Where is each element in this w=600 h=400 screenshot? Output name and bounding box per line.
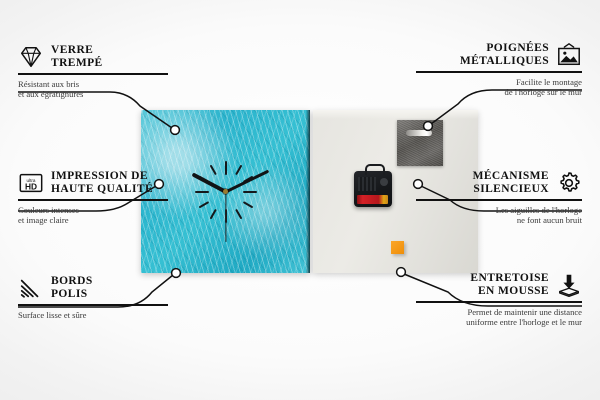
- clock-tick: [209, 164, 242, 219]
- callout-title-line2: SILENCIEUX: [473, 183, 549, 196]
- callout-header: VERRE TREMPÉ: [18, 44, 168, 70]
- callout-rule: [416, 199, 582, 201]
- ultra-hd-icon: ultra HD: [18, 170, 44, 196]
- callout-rule: [416, 301, 582, 303]
- clock-tick: [195, 191, 257, 193]
- mechanism-label-strip: [358, 177, 376, 191]
- clock-tick: [209, 164, 242, 219]
- callout-sub-line1: Facilite le montage: [416, 77, 582, 88]
- callout-mecanisme-silencieux[interactable]: MÉCANISME SILENCIEUX Les aiguilles de l'…: [416, 170, 582, 226]
- clock-tick: [198, 175, 253, 208]
- infographic-canvas: VERRE TREMPÉ Résistant aux bris et aux é…: [0, 0, 600, 400]
- mechanism-dial: [380, 178, 388, 186]
- callout-title-line2: TREMPÉ: [51, 57, 103, 70]
- clock-tick: [198, 175, 253, 208]
- callout-header: MÉCANISME SILENCIEUX: [416, 170, 582, 196]
- metallic-handle-plate: [397, 120, 443, 166]
- clock-tick: [209, 164, 242, 219]
- callout-rule: [18, 73, 168, 75]
- callout-sub-line2: et aux égratignures: [18, 89, 168, 100]
- callout-sub-line1: Couleurs intenses: [18, 205, 168, 216]
- callout-entretoise-en-mousse[interactable]: ENTRETOISE EN MOUSSE Permet de maintenir…: [416, 272, 582, 328]
- callout-sub-line1: Surface lisse et sûre: [18, 310, 168, 321]
- foam-spacer: [391, 241, 404, 254]
- clock-tick: [198, 175, 253, 208]
- clock-tick: [198, 175, 253, 208]
- callout-sub-line2: uniforme entre l'horloge et le mur: [416, 317, 582, 328]
- panel-top-sheen: [313, 110, 478, 119]
- callout-header: BORDS POLIS: [18, 275, 168, 301]
- callout-sub-line1: Résistant aux bris: [18, 79, 168, 90]
- callout-sub-line2: ne font aucun bruit: [416, 215, 582, 226]
- callout-title-line1: POIGNÉES: [460, 42, 549, 55]
- callout-title-line2: HAUTE QUALITÉ: [51, 183, 153, 196]
- gear-icon: [556, 170, 582, 196]
- foam-spacer-icon: [556, 272, 582, 298]
- clock-hour-hand: [191, 172, 226, 193]
- callout-title-line1: IMPRESSION DE: [51, 170, 153, 183]
- callout-verre-trempe[interactable]: VERRE TREMPÉ Résistant aux bris et aux é…: [18, 44, 168, 100]
- callout-sub-line2: de l'horloge sur le mur: [416, 87, 582, 98]
- callout-sub-line1: Permet de maintenir une distance: [416, 307, 582, 318]
- callout-sub-line1: Les aiguilles de l'horloge: [416, 205, 582, 216]
- clock-tick: [209, 164, 242, 219]
- clock-tick: [195, 191, 257, 193]
- handle-slot: [406, 130, 432, 136]
- clock-tick: [225, 161, 227, 223]
- callout-bords-polis[interactable]: BORDS POLIS Surface lisse et sûre: [18, 275, 168, 320]
- callout-impression-haute-qualite[interactable]: ultra HD IMPRESSION DE HAUTE QUALITÉ Cou…: [18, 170, 168, 226]
- callout-poignees-metalliques[interactable]: POIGNÉES MÉTALLIQUES Facilite le montage…: [416, 42, 582, 98]
- callout-header: ENTRETOISE EN MOUSSE: [416, 272, 582, 298]
- clock-tick: [225, 161, 227, 223]
- battery: [357, 195, 388, 204]
- callout-header: ultra HD IMPRESSION DE HAUTE QUALITÉ: [18, 170, 168, 196]
- svg-text:HD: HD: [25, 182, 37, 192]
- callout-title-line1: BORDS: [51, 275, 93, 288]
- callout-title-line2: MÉTALLIQUES: [460, 55, 549, 68]
- callout-title-line2: EN MOUSSE: [470, 285, 549, 298]
- polished-edges-icon: [18, 275, 44, 301]
- clock-mechanism: [354, 171, 392, 207]
- picture-frame-icon: [556, 42, 582, 68]
- callout-title-line1: VERRE: [51, 44, 103, 57]
- callout-rule: [18, 304, 168, 306]
- mechanism-hanger: [365, 164, 385, 175]
- clock-minute-hand: [225, 169, 269, 193]
- clock-second-hand: [225, 192, 226, 242]
- callout-title-line1: ENTRETOISE: [470, 272, 549, 285]
- clock-right-edge: [306, 110, 310, 273]
- clock-center-pin: [223, 189, 228, 194]
- callout-rule: [18, 199, 168, 201]
- callout-rule: [416, 71, 582, 73]
- callout-sub-line2: et image claire: [18, 215, 168, 226]
- callout-header: POIGNÉES MÉTALLIQUES: [416, 42, 582, 68]
- callout-title-line1: MÉCANISME: [473, 170, 549, 183]
- callout-title-line2: POLIS: [51, 288, 93, 301]
- diamond-icon: [18, 44, 44, 70]
